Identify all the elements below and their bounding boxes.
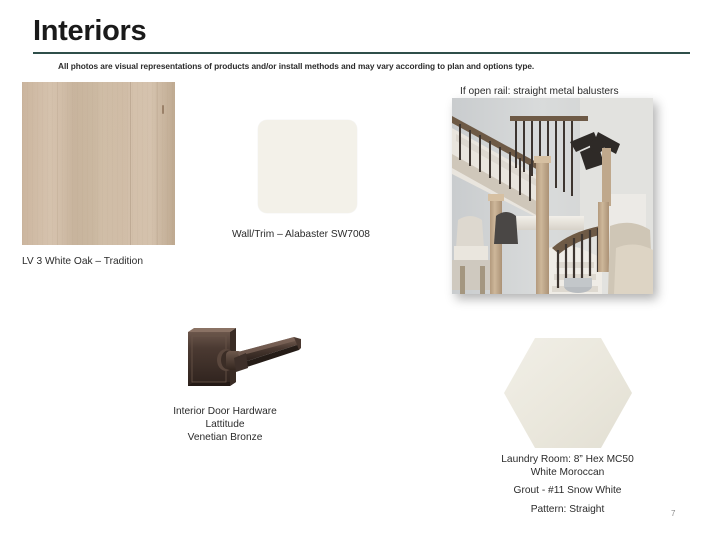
stairs-caption: If open rail: straight metal balusters	[460, 85, 619, 98]
wood-grain-knot-icon	[162, 105, 164, 114]
door-lever-handle-icon	[182, 322, 304, 394]
page-title: Interiors	[33, 16, 146, 48]
hardware-caption: Interior Door Hardware Lattitude Venetia…	[163, 405, 287, 444]
tile-caption-product: Laundry Room: 8” Hex MC50 White Moroccan	[497, 453, 638, 479]
tile-caption-product-line-2: White Moroccan	[497, 466, 638, 479]
wood-plank-swatch-icon	[22, 82, 175, 245]
flooring-caption: LV 3 White Oak – Tradition	[22, 255, 143, 268]
hardware-caption-line-2: Lattitude	[163, 418, 287, 431]
paint-caption: Wall/Trim – Alabaster SW7008	[232, 228, 370, 241]
staircase-photo-icon	[452, 98, 653, 294]
hexagon-tile-svg	[503, 337, 633, 449]
tile-caption-product-line-1: Laundry Room: 8” Hex MC50	[497, 453, 638, 466]
hexagon-tile-swatch-icon	[503, 337, 633, 449]
hardware-caption-line-3: Venetian Bronze	[163, 431, 287, 444]
tile-caption-pattern: Pattern: Straight	[497, 503, 638, 516]
paint-chip-swatch-icon	[258, 120, 357, 213]
door-lever-svg	[182, 322, 304, 394]
disclaimer-subtitle: All photos are visual representations of…	[58, 61, 534, 71]
page-number: 7	[671, 509, 675, 518]
slide-canvas: Interiors All photos are visual represen…	[0, 0, 718, 537]
title-divider-rule	[33, 52, 690, 54]
staircase-photo	[452, 98, 653, 294]
tile-caption-grout: Grout - #11 Snow White	[497, 484, 638, 497]
hardware-caption-line-1: Interior Door Hardware	[163, 405, 287, 418]
